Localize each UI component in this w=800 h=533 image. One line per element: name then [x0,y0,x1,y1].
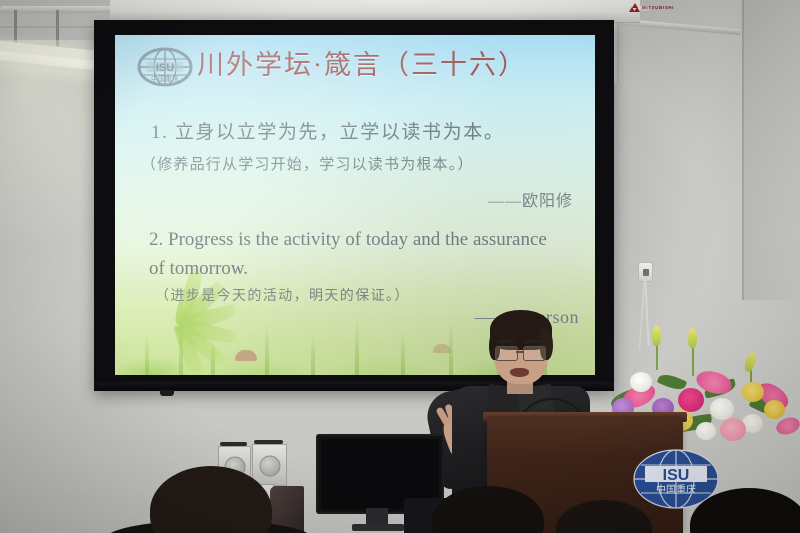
slide-quote-1-main: 1. 立身以立学为先，立学以读书为本。 [151,117,504,144]
white-rose [696,422,716,440]
speaker-eyebrow [498,340,515,343]
slide-quote-1-gloss: （修养品行从学习开始，学习以读书为根本。） [141,153,474,174]
slide-mushroom-decoration [235,350,257,361]
svg-text:中国重庆: 中国重庆 [151,74,179,83]
svg-text:ISU: ISU [663,467,690,484]
yellow-chrysanthemum [764,400,785,419]
white-rose [630,372,652,392]
peach-chrysanthemum [720,418,746,441]
speaker-top-panel [254,440,283,444]
podium-logo-caption: 中国重庆 [656,483,696,496]
desktop-speaker-right [252,444,287,486]
mitsubishi-logo-icon [630,3,639,11]
monitor-base [352,524,404,531]
mitsubishi-brand: MITSUBISHI [630,3,674,11]
ceiling-conduit [614,22,619,84]
yellow-chrysanthemum [742,382,764,402]
isu-globe-logo-icon: ISU 中国重庆 [137,47,193,91]
slide-quote-2-main: 2. Progress is the activity of today and… [149,225,559,283]
lily-bud [652,326,661,346]
projection-screen-hook [160,390,174,396]
lily-bud [743,351,758,373]
slide-quote-1-text: 立身以立学为先，立学以读书为本。 [175,122,505,143]
slide-title: 川外学坛·箴言（三十六） [197,43,589,82]
slide-quote-2-gloss: （进步是今天的活动，明天的保证。） [155,285,410,305]
magenta-chrysanthemum [678,388,704,412]
eyeglasses-icon [495,346,547,359]
right-wall-column [742,0,800,300]
ac-brand-label: MITSUBISHI [642,5,674,10]
right-wall-column-edge [742,0,744,300]
slide-quote-2-number: 2. [149,229,163,250]
lily-bud [688,328,697,348]
svg-text:ISU: ISU [156,62,174,74]
slide-quote-1-attribution: ——欧阳修 [488,187,573,211]
speaker-mouth [510,368,529,377]
lecture-hall-photo: MITSUBISHI [0,0,800,533]
speaker-top-panel [220,442,247,446]
white-rose [710,398,734,420]
slide-quote-1-number: 1. [151,122,168,143]
slide-quote-2-text: Progress is the activity of today and th… [149,229,547,279]
